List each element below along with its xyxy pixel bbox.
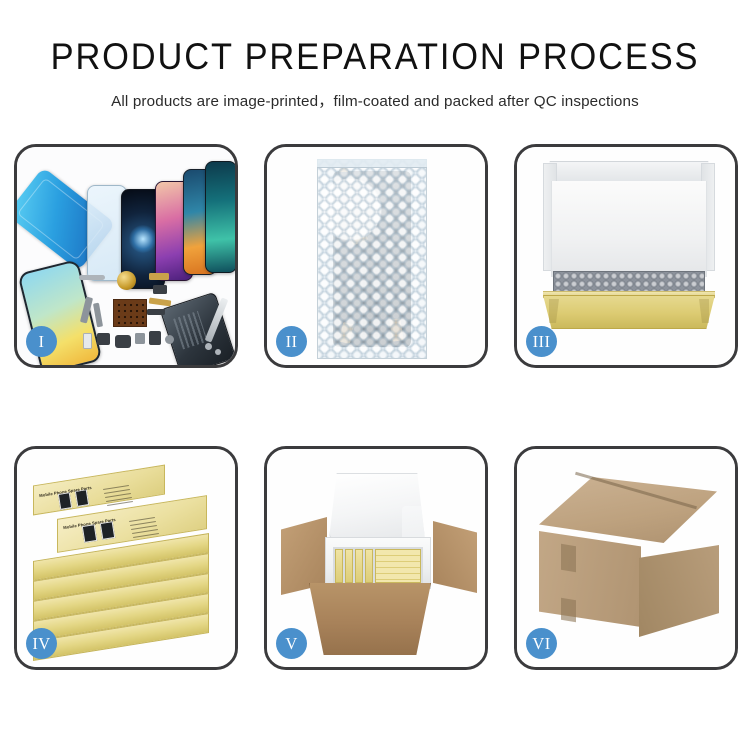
part-flex-gold-icon [149,273,169,280]
foam-sheet-icon [551,181,707,277]
carton-tape-lower-icon [561,598,576,622]
screw-tray-icon [113,299,147,327]
process-step-panel-2: II [264,144,488,368]
box-lid-icon [543,161,715,183]
panel-3-badge: III [526,326,557,357]
process-step-panel-5: V [264,446,488,670]
part-shield-icon [147,309,165,315]
part-screw-icon [205,343,212,350]
carton-flap-right-icon [433,521,477,593]
part-flex-cable-2-icon [93,303,103,328]
inner-box-body-icon [543,295,715,329]
process-step-panel-6: VI [514,446,738,670]
part-screw-2-icon [215,349,221,355]
yellow-box-stack-icon [375,549,421,583]
part-vibrator-icon [97,333,110,345]
yellow-box-upright-1-icon [335,549,343,583]
process-step-panel-4: Mobile Phone Spare Parts Mobile Phone Sp… [14,446,238,670]
yellow-box-upright-4-icon [365,549,373,583]
header: PRODUCT PREPARATION PROCESS All products… [0,0,750,111]
bubble-wrap-bag-icon [317,159,427,359]
part-connector-icon [149,297,172,306]
product-preparation-infographic: PRODUCT PREPARATION PROCESS All products… [0,0,750,750]
carton-side-face-icon [639,545,719,637]
page-subtitle: All products are image-printed，film-coat… [0,89,750,111]
yellow-box-upright-2-icon [345,549,353,583]
box2-screen-image-1-icon [82,524,97,543]
part-sim-tray-icon [149,331,161,345]
panel-1-badge: I [26,326,57,357]
phone-green-display-icon [205,161,235,273]
panel-6-badge: VI [526,628,557,659]
panel-4-badge: IV [26,628,57,659]
speaker-module-icon [117,271,136,290]
panel-2-badge: II [276,326,307,357]
process-step-panel-1: I [14,144,238,368]
bag-seal-icon [317,159,427,168]
panel-5-badge: V [276,628,307,659]
part-camera-lens-icon [83,333,92,349]
yellow-box-upright-3-icon [355,549,363,583]
styrofoam-cavity-icon [333,547,423,585]
part-screw-set-icon [135,333,145,344]
process-step-grid: I II [14,144,737,670]
process-step-panel-3: III [514,144,738,368]
part-antenna-icon [79,275,105,280]
part-bracket-icon [153,285,167,294]
styrofoam-lid-icon [329,473,425,539]
page-title: PRODUCT PREPARATION PROCESS [26,36,724,78]
carton-body-icon [309,583,431,655]
part-button-icon [165,335,174,344]
part-taptic-icon [115,335,131,348]
carton-front-face-icon [539,531,641,627]
carton-tape-upper-icon [561,544,576,572]
